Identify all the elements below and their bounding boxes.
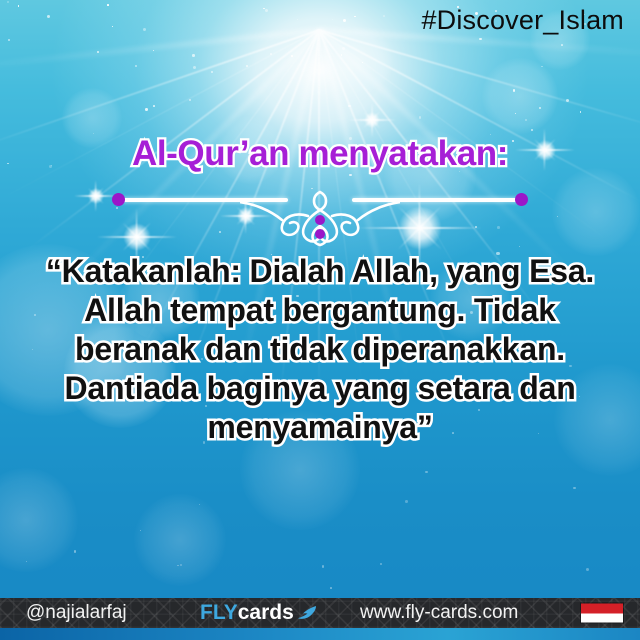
sparkle	[199, 504, 200, 505]
sparkle	[330, 587, 332, 589]
sparkle	[153, 105, 155, 107]
logo-cards-text: cards	[238, 601, 294, 625]
sparkle	[189, 99, 190, 100]
sparkle	[513, 89, 515, 91]
sparkle	[18, 5, 19, 6]
flag-stripe-red	[581, 604, 623, 614]
sparkle	[8, 39, 10, 41]
sparkle	[297, 19, 298, 20]
footer-bar: @najialarfaj FLYcards www.fly-cards.com	[0, 598, 640, 628]
divider-dot-right	[515, 193, 528, 206]
flag-stripe-white	[581, 613, 623, 623]
bokeh-circle	[134, 494, 226, 586]
hashtag-label: #Discover_Islam	[421, 5, 624, 36]
sparkle	[380, 563, 382, 565]
sparkle	[211, 71, 214, 74]
sparkle	[349, 174, 352, 177]
floral-flourish-ornament-icon	[240, 186, 400, 248]
sparkle	[74, 550, 77, 553]
light-ray	[0, 28, 321, 78]
sparkle	[419, 116, 422, 119]
bokeh-circle	[0, 468, 78, 572]
sparkle	[531, 129, 533, 131]
sparkle	[34, 314, 36, 316]
sparkle	[525, 119, 527, 121]
sparkle	[586, 568, 589, 571]
sparkle	[539, 107, 542, 110]
sparkle	[97, 51, 99, 53]
divider-dot-left	[112, 193, 125, 206]
bird-icon	[297, 605, 317, 621]
sparkle	[580, 111, 581, 112]
sparkle	[145, 108, 148, 111]
sparkle	[566, 99, 569, 102]
sparkle	[265, 9, 268, 12]
sparkle	[342, 47, 345, 50]
sparkle	[32, 349, 33, 350]
sparkle	[291, 55, 293, 57]
sparkle	[47, 15, 50, 18]
bokeh-circle	[482, 58, 558, 134]
sparkle	[383, 15, 385, 17]
sparkle	[348, 105, 350, 107]
sparkle	[341, 54, 342, 55]
sparkle	[479, 38, 481, 40]
sparkle	[26, 561, 27, 562]
quote-text: “Katakanlah: Dialah Allah, yang Esa. All…	[40, 252, 600, 447]
decorative-divider	[0, 186, 640, 248]
sparkle	[362, 62, 363, 63]
quote-card: #Discover_Islam Al-Qur’an menyatakan: “K…	[0, 0, 640, 640]
page-title: Al-Qur’an menyatakan:	[0, 134, 640, 174]
sparkle	[192, 54, 194, 56]
sparkle	[270, 53, 272, 55]
sparkle	[193, 66, 196, 69]
author-handle[interactable]: @najialarfaj	[26, 602, 127, 624]
sparkle	[135, 65, 137, 67]
logo-fly-text: FLY	[200, 601, 238, 625]
light-ray	[319, 29, 640, 149]
sparkle	[573, 487, 575, 489]
flycards-logo[interactable]: FLYcards	[200, 601, 317, 625]
sparkle	[405, 500, 408, 503]
ornament-dot-lower	[315, 229, 325, 239]
bottom-accent-strip	[0, 628, 640, 640]
sparkle	[322, 565, 324, 567]
website-url[interactable]: www.fly-cards.com	[360, 602, 518, 624]
sparkle	[7, 1, 9, 3]
sparkle	[143, 28, 146, 31]
sparkle	[180, 564, 182, 566]
sparkle	[107, 4, 109, 6]
sparkle	[354, 16, 356, 18]
sparkle	[177, 565, 179, 567]
sparkle	[561, 44, 563, 46]
sparkle	[112, 26, 114, 28]
sparkle	[425, 471, 427, 473]
sparkle	[343, 19, 346, 22]
bokeh-circle	[326, 26, 394, 94]
ornament-dot-upper	[315, 215, 325, 225]
sparkle	[153, 50, 154, 51]
sparkle	[541, 66, 543, 68]
sparkle	[515, 113, 516, 114]
sparkle	[332, 19, 333, 20]
indonesia-flag-icon	[580, 603, 624, 624]
sparkle	[140, 530, 141, 531]
sparkle	[246, 65, 248, 67]
sparkle	[263, 8, 264, 9]
